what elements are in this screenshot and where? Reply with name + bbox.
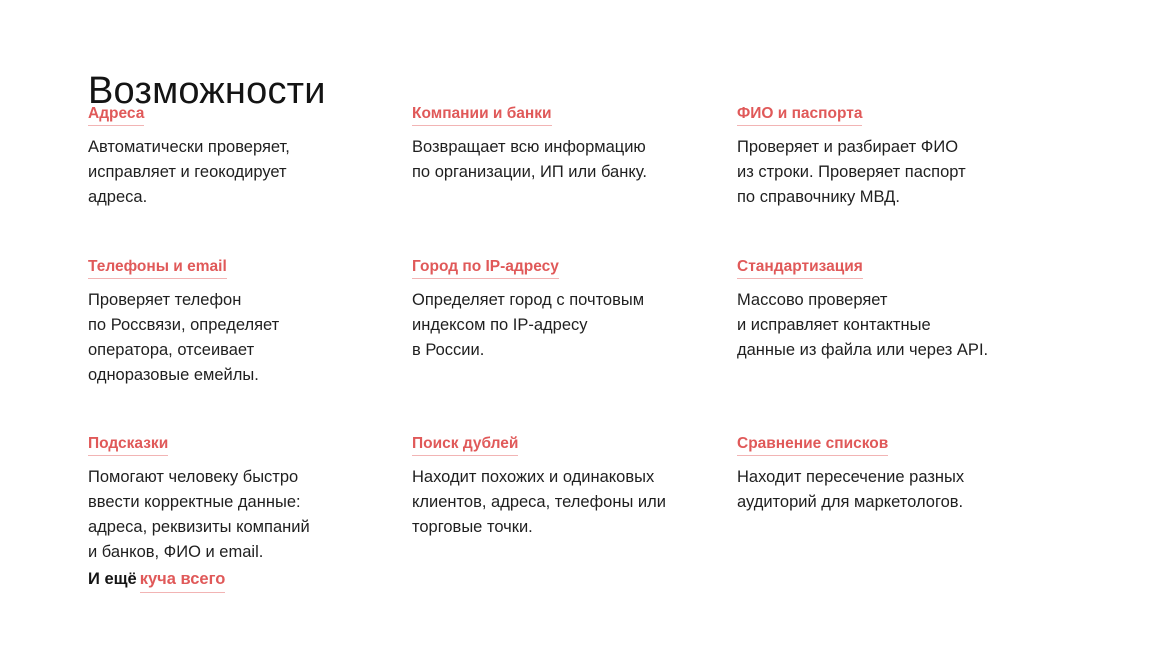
desc-line: индексом по IP-адресу	[412, 313, 713, 338]
feature-phones-email: Телефоны и email Проверяет телефон по Ро…	[88, 257, 388, 388]
desc-line: клиентов, адреса, телефоны или	[412, 490, 713, 515]
feature-title-city-by-ip[interactable]: Город по IP-адресу	[412, 257, 559, 279]
desc-line: адреса.	[88, 185, 388, 210]
feature-description-city-by-ip: Определяет город с почтовым индексом по …	[412, 288, 713, 363]
feature-cell-duplicates: Поиск дублей Находит похожих и одинаковы…	[412, 434, 737, 540]
desc-line: оператора, отсеивает	[88, 338, 388, 363]
desc-line: по Россвязи, определяет	[88, 313, 388, 338]
feature-cell-standardization: Стандартизация Массово проверяет и испра…	[737, 257, 1088, 363]
feature-companies: Компании и банки Возвращает всю информац…	[412, 104, 713, 185]
features-row-2: Телефоны и email Проверяет телефон по Ро…	[88, 257, 1088, 388]
feature-standardization: Стандартизация Массово проверяет и испра…	[737, 257, 1080, 363]
feature-description-suggestions: Помогают человеку быстро ввести корректн…	[88, 465, 388, 565]
feature-description-phones-email: Проверяет телефон по Россвязи, определяе…	[88, 288, 388, 388]
desc-line: Находит похожих и одинаковых	[412, 465, 713, 490]
feature-cell-city-by-ip: Город по IP-адресу Определяет город с по…	[412, 257, 737, 363]
desc-line: и банков, ФИО и email.	[88, 540, 388, 565]
feature-suggestions: Подсказки Помогают человеку быстро ввест…	[88, 434, 388, 565]
feature-fio-passport: ФИО и паспорта Проверяет и разбирает ФИО…	[737, 104, 1080, 210]
row-spacer	[88, 210, 1088, 257]
feature-cell-companies: Компании и банки Возвращает всю информац…	[412, 104, 737, 185]
feature-cell-fio-passport: ФИО и паспорта Проверяет и разбирает ФИО…	[737, 104, 1088, 210]
feature-description-fio-passport: Проверяет и разбирает ФИО из строки. Про…	[737, 135, 1080, 210]
desc-line: одноразовые емейлы.	[88, 363, 388, 388]
feature-title-phones-email[interactable]: Телефоны и email	[88, 257, 227, 279]
desc-line: в России.	[412, 338, 713, 363]
feature-title-addresses[interactable]: Адреса	[88, 104, 144, 126]
feature-list-comparison: Сравнение списков Находит пересечение ра…	[737, 434, 1080, 515]
desc-line: аудиторий для маркетологов.	[737, 490, 1080, 515]
desc-line: из строки. Проверяет паспорт	[737, 160, 1080, 185]
slide-root: Возможности Адреса Автоматически проверя…	[0, 0, 1160, 648]
feature-description-list-comparison: Находит пересечение разных аудиторий для…	[737, 465, 1080, 515]
desc-line: Помогают человеку быстро	[88, 465, 388, 490]
feature-cell-list-comparison: Сравнение списков Находит пересечение ра…	[737, 434, 1088, 515]
features-row-3: Подсказки Помогают человеку быстро ввест…	[88, 434, 1088, 565]
desc-line: Автоматически проверяет,	[88, 135, 388, 160]
feature-description-duplicates: Находит похожих и одинаковых клиентов, а…	[412, 465, 713, 540]
feature-title-suggestions[interactable]: Подсказки	[88, 434, 168, 456]
feature-title-fio-passport[interactable]: ФИО и паспорта	[737, 104, 862, 126]
desc-line: ввести корректные данные:	[88, 490, 388, 515]
desc-line: по организации, ИП или банку.	[412, 160, 713, 185]
feature-description-addresses: Автоматически проверяет, исправляет и ге…	[88, 135, 388, 210]
desc-line: Определяет город с почтовым	[412, 288, 713, 313]
feature-cell-addresses: Адреса Автоматически проверяет, исправля…	[88, 104, 412, 210]
desc-line: адреса, реквизиты компаний	[88, 515, 388, 540]
feature-duplicates: Поиск дублей Находит похожих и одинаковы…	[412, 434, 713, 540]
feature-title-list-comparison[interactable]: Сравнение списков	[737, 434, 888, 456]
row-spacer	[88, 388, 1088, 434]
desc-line: и исправляет контактные	[737, 313, 1080, 338]
desc-line: Возвращает всю информацию	[412, 135, 713, 160]
features-grid: Адреса Автоматически проверяет, исправля…	[88, 104, 1088, 565]
desc-line: Проверяет телефон	[88, 288, 388, 313]
feature-cell-phones-email: Телефоны и email Проверяет телефон по Ро…	[88, 257, 412, 388]
feature-title-standardization[interactable]: Стандартизация	[737, 257, 863, 279]
feature-title-duplicates[interactable]: Поиск дублей	[412, 434, 518, 456]
footnote: И ещёкуча всего	[88, 567, 225, 593]
feature-title-companies[interactable]: Компании и банки	[412, 104, 552, 126]
feature-city-by-ip: Город по IP-адресу Определяет город с по…	[412, 257, 713, 363]
desc-line: Находит пересечение разных	[737, 465, 1080, 490]
desc-line: Проверяет и разбирает ФИО	[737, 135, 1080, 160]
desc-line: данные из файла или через API.	[737, 338, 1080, 363]
features-row-1: Адреса Автоматически проверяет, исправля…	[88, 104, 1088, 210]
desc-line: исправляет и геокодирует	[88, 160, 388, 185]
feature-cell-suggestions: Подсказки Помогают человеку быстро ввест…	[88, 434, 412, 565]
feature-description-companies: Возвращает всю информацию по организации…	[412, 135, 713, 185]
desc-line: торговые точки.	[412, 515, 713, 540]
desc-line: Массово проверяет	[737, 288, 1080, 313]
desc-line: по справочнику МВД.	[737, 185, 1080, 210]
feature-description-standardization: Массово проверяет и исправляет контактны…	[737, 288, 1080, 363]
footnote-more-link[interactable]: куча всего	[140, 567, 226, 593]
footnote-prefix: И ещё	[88, 570, 137, 588]
feature-addresses: Адреса Автоматически проверяет, исправля…	[88, 104, 388, 210]
